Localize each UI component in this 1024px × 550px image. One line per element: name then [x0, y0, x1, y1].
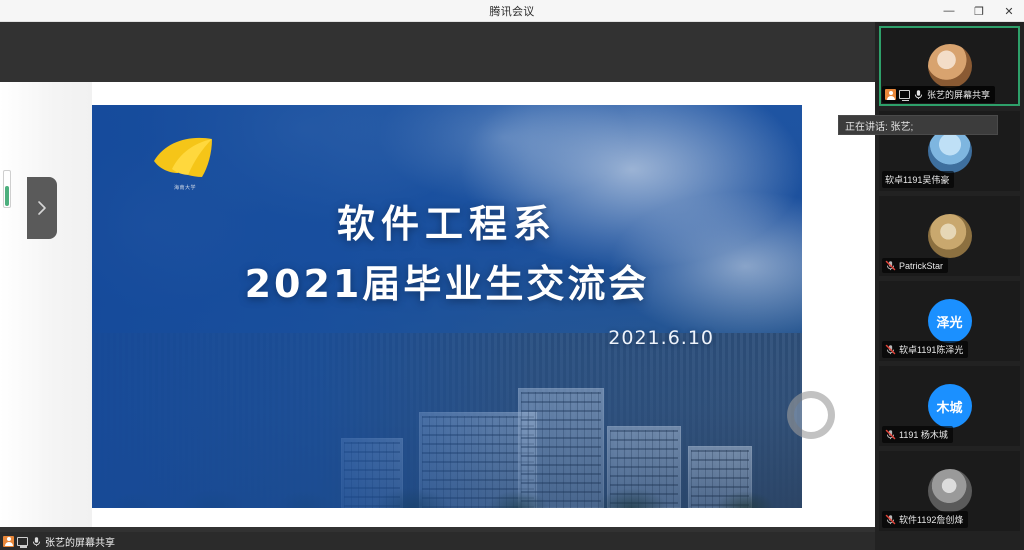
participant-rail[interactable]: 张艺的屏幕共享 软卓1191吴伟豪 PatrickStar 泽光 — [875, 22, 1024, 550]
participant-name: 1191 杨木城 — [899, 428, 948, 441]
mic-muted-icon — [885, 260, 896, 271]
participant-tile[interactable]: 张艺的屏幕共享 — [879, 26, 1020, 106]
slide-title-line-1: 软件工程系 — [92, 193, 802, 248]
chevron-right-icon — [36, 200, 48, 216]
mic-muted-icon — [885, 344, 896, 355]
participant-label-row: 软件1192詹创烽 — [882, 511, 968, 528]
participant-label-row: PatrickStar — [882, 258, 948, 273]
slide-date: 2021.6.10 — [608, 327, 714, 349]
avatar — [928, 469, 972, 513]
mic-muted-icon — [885, 429, 896, 440]
participant-tile[interactable]: 木城 1191 杨木城 — [879, 366, 1020, 446]
avatar — [928, 214, 972, 258]
window-title-bar[interactable]: 腾讯会议 — ❐ ✕ — [0, 0, 1024, 22]
participant-tile[interactable]: 软件1192詹创烽 — [879, 451, 1020, 531]
next-slide-button[interactable] — [27, 177, 57, 239]
close-button[interactable]: ✕ — [994, 0, 1024, 22]
person-icon — [3, 536, 14, 547]
university-logo: 海南大学 — [150, 133, 220, 189]
avatar: 泽光 — [928, 299, 972, 343]
participant-name: 软卓1191吴伟豪 — [885, 173, 949, 186]
participant-label-row: 1191 杨木城 — [882, 426, 953, 443]
participant-label-row: 软卓1191吴伟豪 — [882, 171, 954, 188]
window-controls: — ❐ ✕ — [934, 0, 1024, 22]
participant-tile[interactable]: 泽光 软卓1191陈泽光 — [879, 281, 1020, 361]
slide-title-line-2: 2021届毕业生交流会 — [92, 253, 802, 308]
speaking-tooltip: 正在讲话: 张艺; — [838, 115, 998, 135]
screen-share-icon — [899, 90, 910, 99]
avatar: 木城 — [928, 384, 972, 428]
speaking-tooltip-text: 正在讲话: 张艺; — [845, 118, 913, 133]
university-logo-caption: 海南大学 — [150, 184, 220, 191]
shared-screen-taskbar[interactable]: 张艺的屏幕共享 — [0, 532, 875, 550]
participant-name: 张艺的屏幕共享 — [927, 88, 990, 101]
avatar — [928, 44, 972, 88]
maximize-button[interactable]: ❐ — [964, 0, 994, 22]
person-icon — [885, 89, 896, 100]
page-scroll-slider[interactable] — [3, 170, 11, 208]
avatar — [928, 129, 972, 173]
mic-icon — [913, 89, 924, 100]
mic-muted-icon — [885, 514, 896, 525]
participant-label-row: 张艺的屏幕共享 — [882, 86, 995, 103]
screen-share-icon — [17, 537, 28, 546]
presentation-slide: 海南大学 软件工程系 2021届毕业生交流会 2021.6.10 — [92, 105, 802, 508]
participant-label-row: 软卓1191陈泽光 — [882, 341, 968, 358]
taskbar-share-label: 张艺的屏幕共享 — [45, 534, 115, 549]
page-scroll-thumb[interactable] — [5, 186, 9, 206]
shared-document-margin — [0, 82, 92, 527]
participant-name: PatrickStar — [899, 261, 943, 271]
participant-tile[interactable]: PatrickStar — [879, 196, 1020, 276]
window-title: 腾讯会议 — [0, 3, 1024, 19]
shared-screen-stage[interactable]: 海南大学 软件工程系 2021届毕业生交流会 2021.6.10 张艺的屏幕共享 — [0, 22, 875, 550]
participant-name: 软卓1191陈泽光 — [899, 343, 963, 356]
participant-name: 软件1192詹创烽 — [899, 513, 963, 526]
mic-icon — [31, 536, 42, 547]
minimize-button[interactable]: — — [934, 0, 964, 22]
cursor-highlight-ring — [787, 391, 835, 439]
